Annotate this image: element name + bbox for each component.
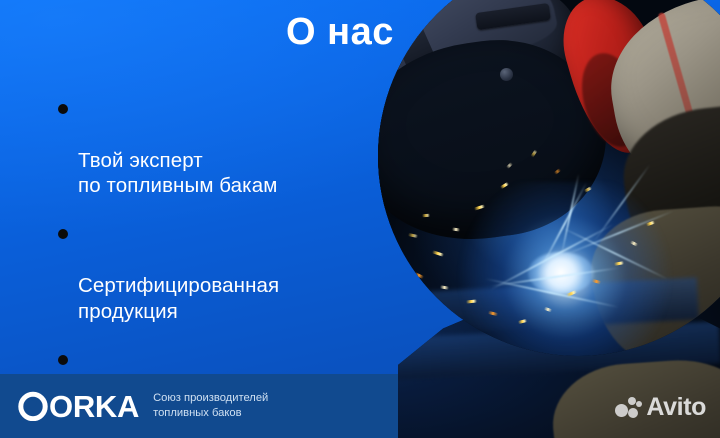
welder-photo xyxy=(378,0,720,356)
avito-watermark: Avito xyxy=(615,395,706,420)
orka-o-mark-icon xyxy=(18,391,48,421)
orka-tagline: Союз производителей топливных баков xyxy=(153,391,268,421)
list-item: Сертифицированная продукция xyxy=(58,221,388,324)
avito-dots-icon xyxy=(615,397,641,419)
helmet-knob xyxy=(500,68,513,81)
avito-brand-text: Avito xyxy=(646,395,706,420)
list-item: Твой эксперт по топливным бакам xyxy=(58,96,388,199)
list-item-label: Сертифицированная продукция xyxy=(78,274,279,323)
bullet-dot-icon xyxy=(58,355,68,365)
orka-logo: ORKA Союз производителей топливных баков xyxy=(18,391,268,422)
footer-bar: ORKA Союз производителей топливных баков xyxy=(0,374,398,438)
orka-logo-text: ORKA xyxy=(49,391,139,422)
welder-photo-circle xyxy=(378,0,720,356)
list-item-label: Твой эксперт по топливным бакам xyxy=(78,149,277,198)
about-us-poster: О нас Твой эксперт по топливным бакам Се… xyxy=(0,0,720,438)
bullet-dot-icon xyxy=(58,104,68,114)
bullet-dot-icon xyxy=(58,229,68,239)
page-title: О нас xyxy=(286,13,394,51)
